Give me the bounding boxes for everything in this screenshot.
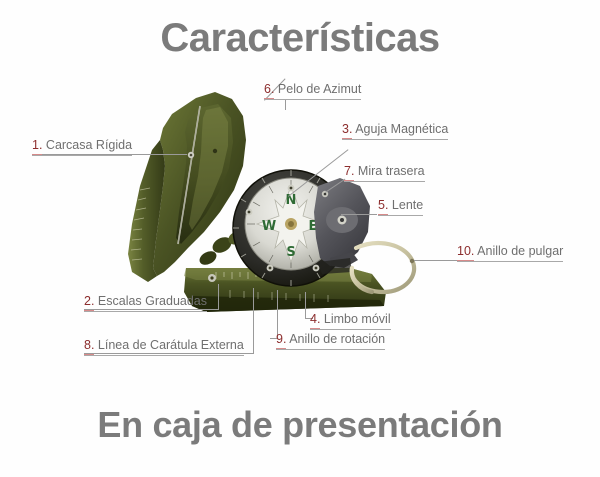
lens-rear-sight bbox=[314, 178, 370, 274]
callout-label-4[interactable]: 4. Limbo móvil bbox=[310, 312, 391, 330]
callout-number-9: 9. bbox=[276, 332, 286, 349]
callout-label-8[interactable]: 8. Línea de Carátula Externa bbox=[84, 338, 244, 356]
svg-text:W: W bbox=[262, 219, 276, 234]
thumb-ring bbox=[352, 243, 414, 292]
callout-text-9: Anillo de rotación bbox=[286, 332, 385, 346]
callout-label-7[interactable]: 7. Mira trasera bbox=[344, 164, 425, 182]
callout-number-2: 2. bbox=[84, 294, 94, 311]
callout-label-3[interactable]: 3. Aguja Magnética bbox=[342, 122, 448, 140]
callout-number-6: 6. bbox=[264, 82, 274, 99]
leader-line-2-vertical bbox=[218, 284, 219, 310]
leader-line-5 bbox=[341, 214, 377, 215]
callout-text-7: Mira trasera bbox=[354, 164, 424, 178]
compass-base bbox=[184, 268, 386, 312]
callout-text-4: Limbo móvil bbox=[320, 312, 390, 326]
svg-text:E: E bbox=[309, 219, 318, 234]
callout-text-8: Línea de Carátula Externa bbox=[94, 338, 243, 352]
callout-number-3: 3. bbox=[342, 122, 352, 139]
callout-label-2[interactable]: 2. Escalas Graduadas bbox=[84, 294, 207, 312]
callout-number-7: 7. bbox=[344, 164, 354, 181]
callout-number-8: 8. bbox=[84, 338, 94, 355]
leader-line-7 bbox=[325, 179, 345, 193]
callout-text-2: Escalas Graduadas bbox=[94, 294, 207, 308]
page-title-top: Características bbox=[0, 16, 600, 61]
callout-label-9[interactable]: 9. Anillo de rotación bbox=[276, 332, 385, 350]
callout-label-5[interactable]: 5. Lente bbox=[378, 198, 423, 216]
leader-line-3 bbox=[288, 149, 349, 197]
leader-line-10 bbox=[414, 260, 458, 261]
compass-cover bbox=[128, 92, 246, 282]
callout-number-1: 1. bbox=[32, 138, 42, 155]
svg-text:S: S bbox=[286, 245, 295, 260]
page-title-bottom: En caja de presentación bbox=[0, 404, 600, 446]
leader-line-9-vertical bbox=[277, 290, 278, 338]
callout-text-6: Pelo de Azimut bbox=[274, 82, 361, 96]
callout-text-1: Carcasa Rígida bbox=[42, 138, 132, 152]
callout-text-5: Lente bbox=[388, 198, 423, 212]
callout-label-10[interactable]: 10. Anillo de pulgar bbox=[457, 244, 563, 262]
callout-number-10: 10. bbox=[457, 244, 474, 261]
callout-label-1[interactable]: 1. Carcasa Rígida bbox=[32, 138, 132, 156]
diagram-canvas: N E S W bbox=[0, 0, 600, 477]
leader-line-6-drop bbox=[285, 100, 286, 110]
callout-text-3: Aguja Magnética bbox=[352, 122, 448, 136]
leader-line-4-vertical bbox=[305, 292, 306, 318]
leader-line-8-vertical bbox=[253, 288, 254, 354]
callout-label-6[interactable]: 6. Pelo de Azimut bbox=[264, 82, 361, 100]
callout-number-4: 4. bbox=[310, 312, 320, 329]
callout-text-10: Anillo de pulgar bbox=[474, 244, 563, 258]
callout-number-5: 5. bbox=[378, 198, 388, 215]
